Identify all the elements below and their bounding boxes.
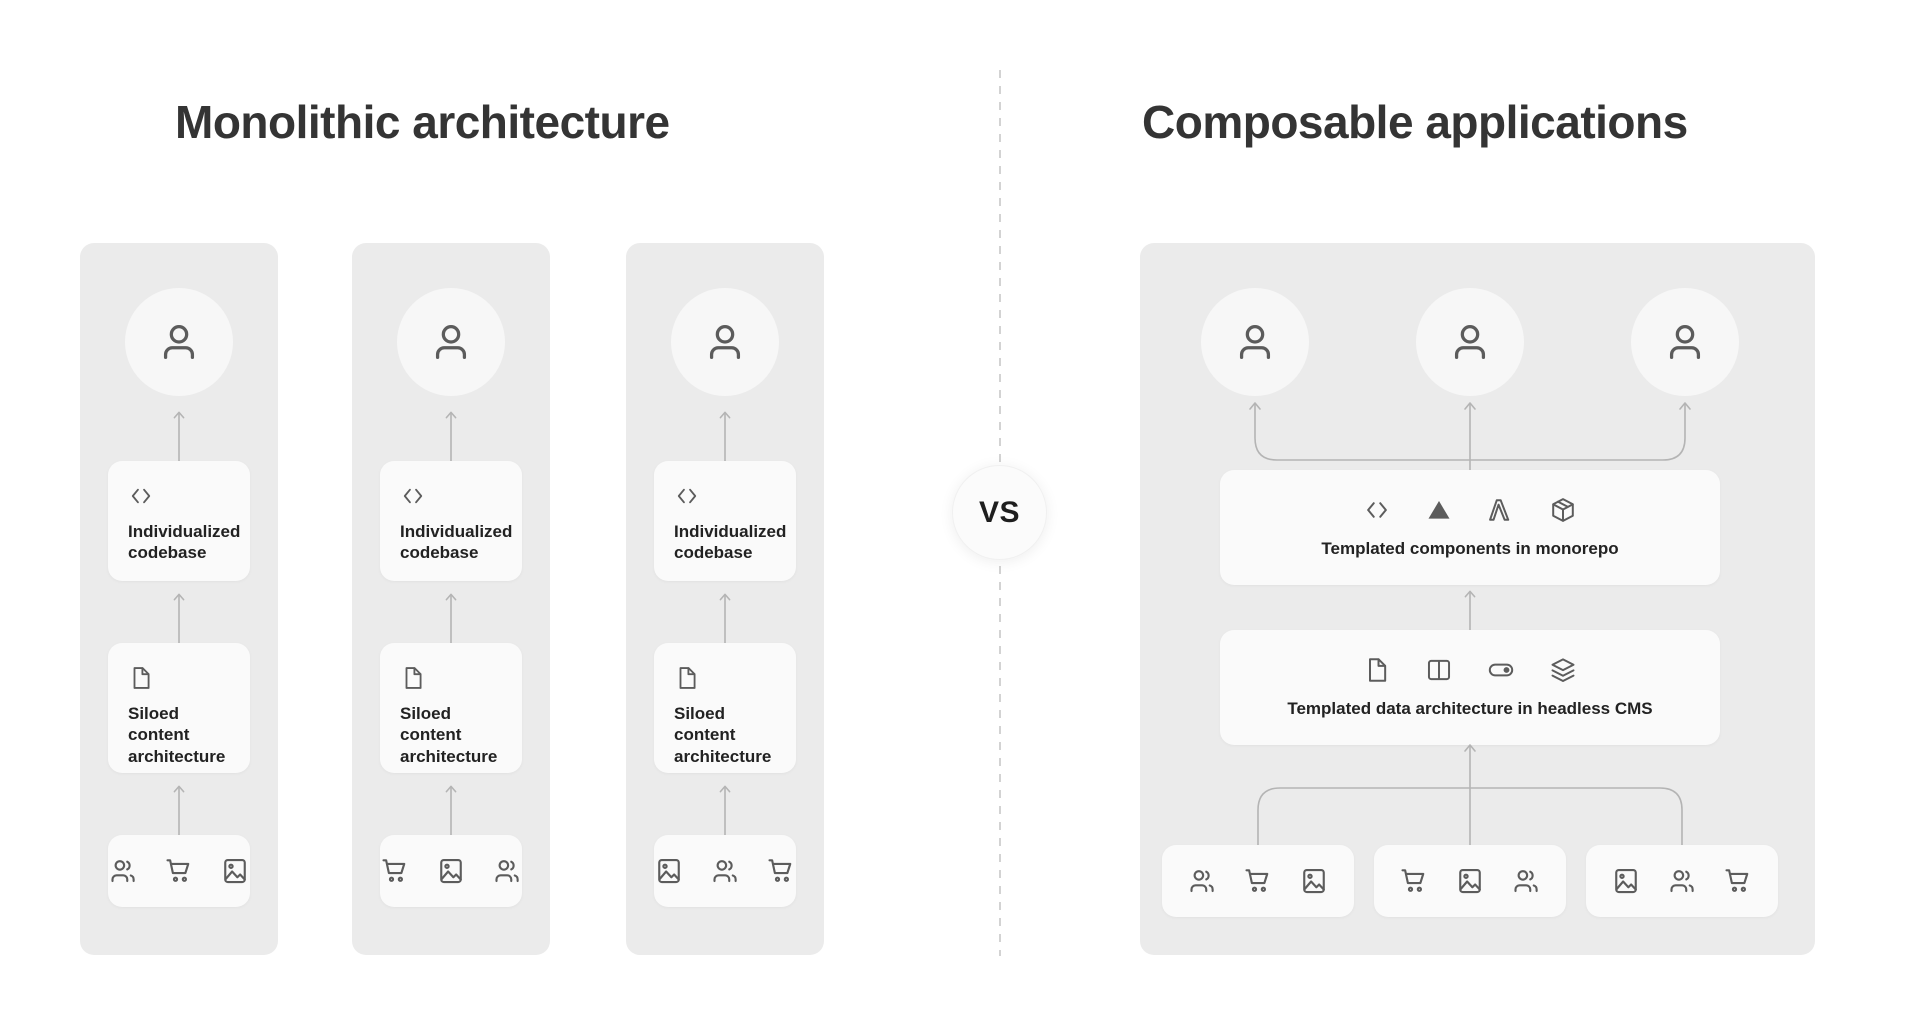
image-icon [1611, 866, 1641, 896]
icon-row [380, 856, 522, 886]
shopping-cart-icon [1243, 866, 1273, 896]
image-icon [220, 856, 250, 886]
card-title: Individualized codebase [128, 521, 230, 564]
avatar [1416, 288, 1524, 396]
image-icon [436, 856, 466, 886]
card-title: Siloed content architecture [128, 703, 230, 767]
avatar [125, 288, 233, 396]
composable-bottom-connector [1160, 740, 1780, 850]
avatar [1631, 288, 1739, 396]
users-icon [1667, 866, 1697, 896]
card-title: Templated data architecture in headless … [1287, 698, 1652, 719]
channel-icon-group [1586, 845, 1778, 917]
page-title-right: Composable applications [1142, 95, 1688, 149]
card-siloed-content-architecture: Siloed content architecture [380, 643, 522, 773]
users-icon [1511, 866, 1541, 896]
code-brackets-icon [128, 483, 230, 509]
users-icon [710, 856, 740, 886]
card-title: Siloed content architecture [674, 703, 776, 767]
page-title-left: Monolithic architecture [175, 95, 670, 149]
avatar [397, 288, 505, 396]
document-icon [1363, 656, 1391, 684]
card-templated-data-architecture: Templated data architecture in headless … [1220, 630, 1720, 745]
channel-icon-group [654, 835, 796, 907]
flow-arrow [170, 409, 188, 461]
package-cube-icon [1549, 496, 1577, 524]
image-icon [1299, 866, 1329, 896]
channel-icon-group [380, 835, 522, 907]
flow-arrow [170, 591, 188, 643]
avatar [671, 288, 779, 396]
shopping-cart-icon [1723, 866, 1753, 896]
channel-icon-group [1162, 845, 1354, 917]
card-title: Templated components in monorepo [1321, 538, 1618, 559]
channel-icon-group [108, 835, 250, 907]
shopping-cart-icon [164, 856, 194, 886]
code-brackets-icon [1363, 496, 1391, 524]
shopping-cart-icon [1399, 866, 1429, 896]
lambda-icon [1487, 496, 1515, 524]
users-icon [1187, 866, 1217, 896]
icon-row [1363, 496, 1577, 524]
card-individualized-codebase: Individualized codebase [108, 461, 250, 581]
flow-arrow [716, 783, 734, 835]
image-icon [654, 856, 684, 886]
card-templated-components: Templated components in monorepo [1220, 470, 1720, 585]
triangle-icon [1425, 496, 1453, 524]
flow-arrow [442, 409, 460, 461]
channel-icon-group [1374, 845, 1566, 917]
card-title: Individualized codebase [400, 521, 502, 564]
toggle-icon [1487, 656, 1515, 684]
image-icon [1455, 866, 1485, 896]
shopping-cart-icon [766, 856, 796, 886]
document-icon [128, 665, 230, 691]
avatar [1201, 288, 1309, 396]
card-siloed-content-architecture: Siloed content architecture [654, 643, 796, 773]
flow-arrow [442, 783, 460, 835]
code-brackets-icon [674, 483, 776, 509]
vs-badge: VS [952, 465, 1047, 560]
card-title: Individualized codebase [674, 521, 776, 564]
icon-row [108, 856, 250, 886]
flow-arrow [716, 409, 734, 461]
layers-icon [1549, 656, 1577, 684]
code-brackets-icon [400, 483, 502, 509]
card-siloed-content-architecture: Siloed content architecture [108, 643, 250, 773]
users-icon [492, 856, 522, 886]
shopping-cart-icon [380, 856, 410, 886]
icon-row [654, 856, 796, 886]
document-icon [674, 665, 776, 691]
users-icon [108, 856, 138, 886]
icon-row [1363, 656, 1577, 684]
diagram-canvas: Monolithic architecture Composable appli… [0, 0, 1920, 1026]
icon-row [1399, 866, 1541, 896]
flow-arrow [170, 783, 188, 835]
card-individualized-codebase: Individualized codebase [380, 461, 522, 581]
icon-row [1611, 866, 1753, 896]
card-title: Siloed content architecture [400, 703, 502, 767]
document-icon [400, 665, 502, 691]
card-individualized-codebase: Individualized codebase [654, 461, 796, 581]
flow-arrow [716, 591, 734, 643]
columns-split-icon [1425, 656, 1453, 684]
flow-arrow [442, 591, 460, 643]
icon-row [1187, 866, 1329, 896]
